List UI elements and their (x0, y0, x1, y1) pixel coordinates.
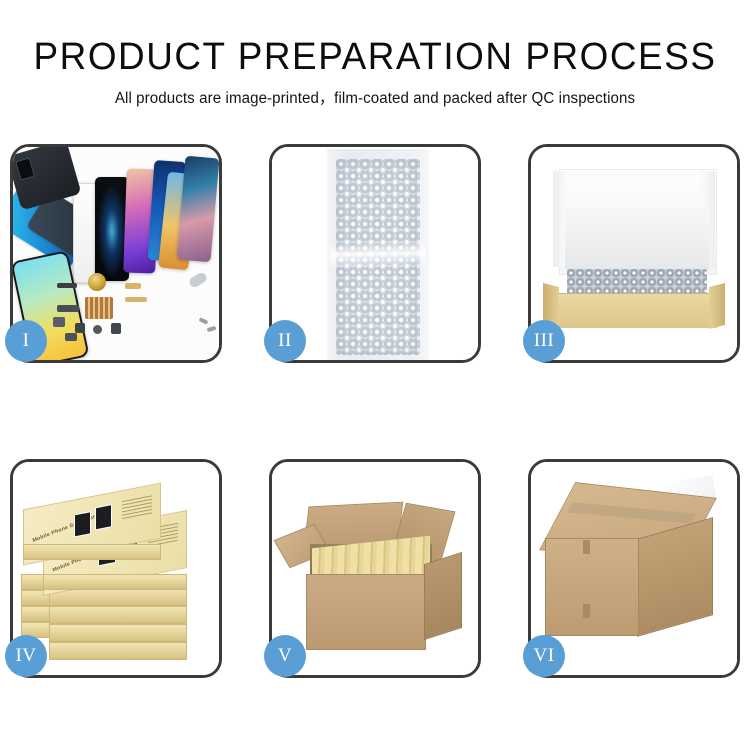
step-image-1 (13, 147, 219, 360)
box-stack-illustration: Mobile Phone Spare Parts Mobile Phone Sp… (13, 462, 219, 675)
carton-side-panel (424, 552, 462, 640)
step-image-4: Mobile Phone Spare Parts Mobile Phone Sp… (13, 462, 219, 675)
vibration-motor-part (88, 273, 106, 291)
carton-front-panel (306, 574, 426, 650)
page-subtitle: All products are image-printed，film-coat… (8, 89, 743, 109)
connector-part-a (57, 305, 79, 312)
bubble-wrap-illustration (272, 147, 478, 360)
step-card-6[interactable]: VI (528, 459, 740, 678)
step-badge-5: V (264, 635, 306, 677)
step-badge-4: IV (5, 635, 47, 677)
step-image-3 (531, 147, 737, 360)
box-window-back-a (74, 511, 91, 537)
small-component-d (65, 333, 77, 341)
carton-seam-lower (583, 604, 590, 618)
step-badge-3: III (523, 320, 565, 362)
sealed-carton-front (545, 538, 639, 636)
sealed-carton-side (637, 517, 713, 637)
speaker-part (57, 283, 77, 288)
camera-module-part (188, 271, 209, 289)
flex-cable-part-a (125, 283, 141, 289)
carton-seam-upper (583, 540, 590, 554)
step-card-1[interactable]: I (10, 144, 222, 363)
page-title: PRODUCT PREPARATION PROCESS (11, 36, 739, 78)
printed-box-front-edge (43, 574, 187, 590)
open-box-illustration (531, 147, 737, 360)
stacked-box-r2 (49, 606, 187, 624)
step-card-3[interactable]: III (528, 144, 740, 363)
box-front-panel (557, 293, 717, 328)
step-card-5[interactable]: V (269, 459, 481, 678)
small-component-b (93, 325, 102, 334)
open-carton-illustration (272, 462, 478, 675)
box-window-back-b (95, 504, 112, 530)
step-badge-6: VI (523, 635, 565, 677)
small-component-c (111, 323, 121, 334)
page-header: PRODUCT PREPARATION PROCESS All products… (0, 0, 750, 109)
connector-part-b (53, 317, 65, 327)
stacked-box-r4 (49, 642, 187, 660)
step-image-5 (272, 462, 478, 675)
printed-box-back-edge (23, 544, 161, 560)
process-steps-grid: I II III (10, 144, 740, 678)
phone-parts-illustration (13, 147, 219, 360)
bubble-wrap-highlight (330, 240, 427, 269)
step-image-6 (531, 462, 737, 675)
sealed-carton-illustration (531, 462, 737, 675)
screw-part-b (207, 326, 217, 332)
box-interior (565, 207, 709, 269)
step-image-2 (272, 147, 478, 360)
chip-grid-part (85, 297, 113, 319)
step-card-4[interactable]: Mobile Phone Spare Parts Mobile Phone Sp… (10, 459, 222, 678)
flex-cable-part-b (125, 297, 147, 302)
step-badge-2: II (264, 320, 306, 362)
small-component-a (75, 323, 85, 333)
step-card-2[interactable]: II (269, 144, 481, 363)
step-badge-1: I (5, 320, 47, 362)
box-spec-lines-back (122, 493, 152, 519)
phone-back-housing (13, 147, 82, 210)
stacked-box-r3 (49, 624, 187, 642)
box-side-right (709, 283, 725, 329)
screw-part-a (199, 317, 209, 324)
